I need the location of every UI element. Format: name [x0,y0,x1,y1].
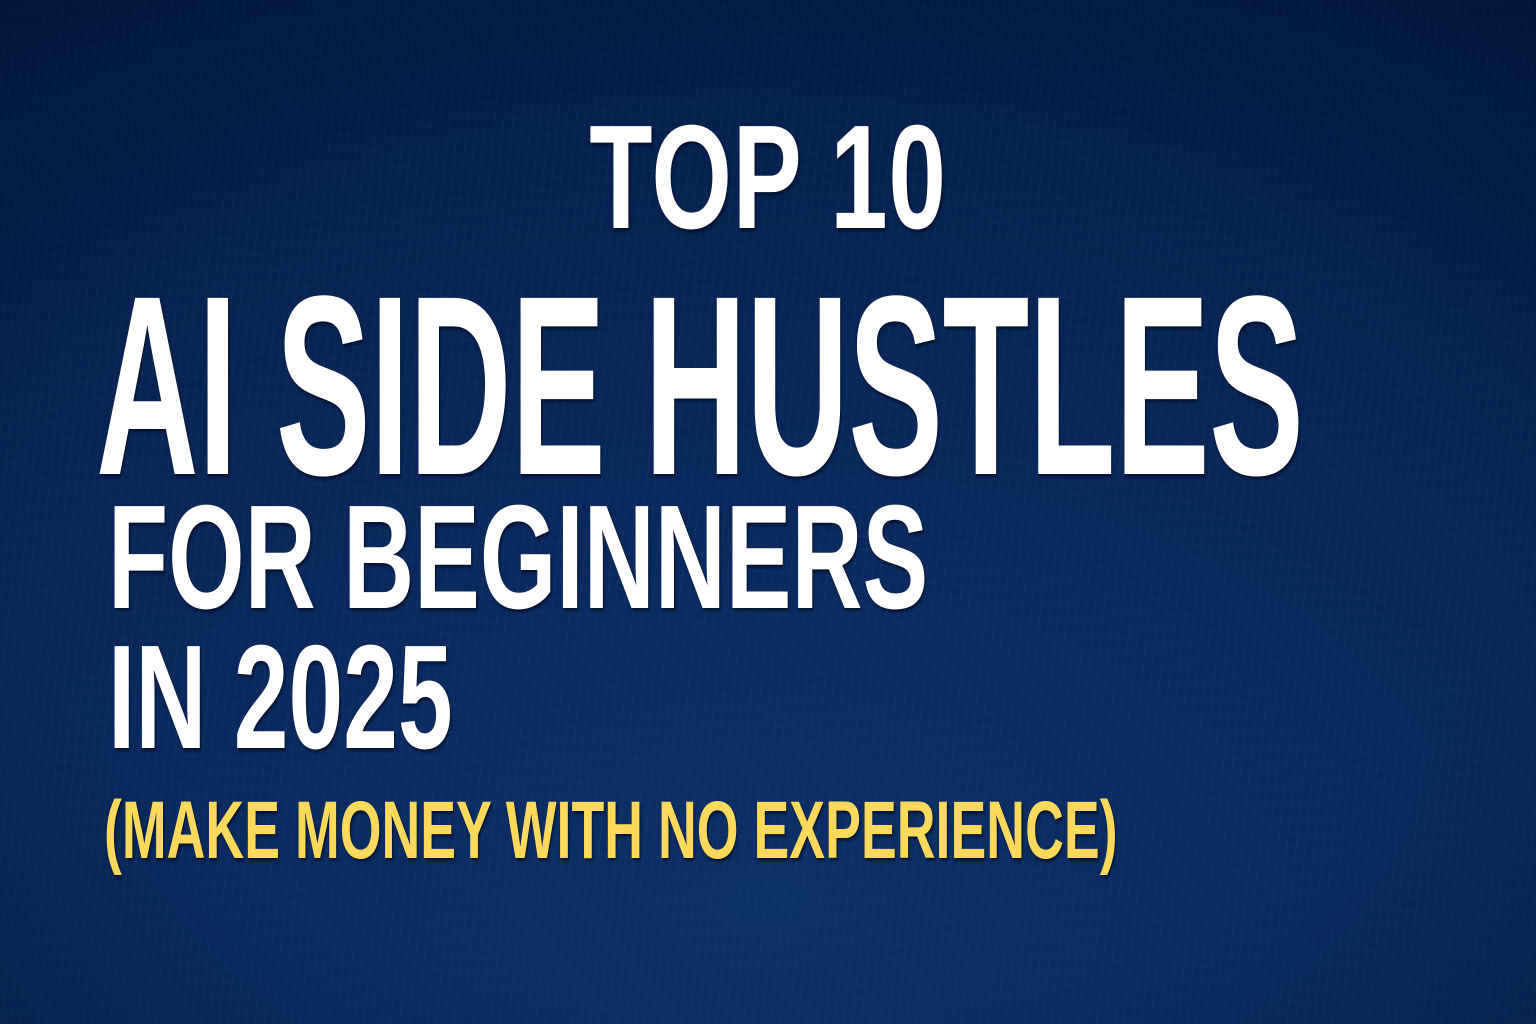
subheadline-text-for-beginners: FOR BEGINNERS [108,484,928,632]
thumbnail-canvas: TOP 10 AI SIDE HUSTLES FOR BEGINNERS IN … [0,0,1536,1024]
subheadline-text-in-2025: IN 2025 [108,624,453,772]
tagline-text-make-money-with-no-experience: (MAKE MONEY WITH NO EXPERIENCE) [104,790,1118,872]
eyebrow-text-top-10: TOP 10 [230,104,1305,252]
title-text-stack: TOP 10 AI SIDE HUSTLES FOR BEGINNERS IN … [0,0,1536,1024]
